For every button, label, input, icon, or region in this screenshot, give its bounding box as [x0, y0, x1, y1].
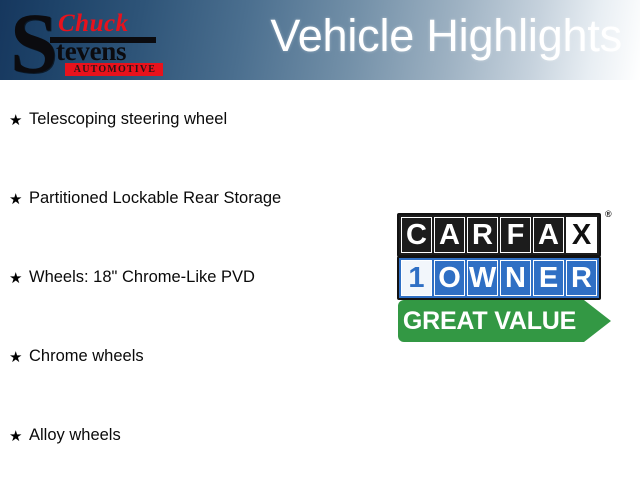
list-item: ★ Telescoping steering wheel — [0, 80, 370, 159]
carfax-brand-row: C A R F A X — [397, 213, 601, 257]
vehicle-highlights-slide: S Chuck tevens AUTOMOTIVE Vehicle Highli… — [0, 0, 640, 480]
logo-first-name: Chuck — [58, 11, 129, 36]
carfax-letter-cell: C — [401, 217, 432, 253]
carfax-letter-cell: X — [566, 217, 597, 253]
owner-letter-cell: 1 — [401, 260, 432, 296]
vehicle-highlights-list: ★ Telescoping steering wheel ★ Partition… — [0, 80, 370, 475]
owner-letter-cell: N — [500, 260, 531, 296]
great-value-label: GREAT VALUE — [398, 300, 581, 342]
page-title: Vehicle Highlights — [270, 7, 622, 65]
list-item: ★ Partitioned Lockable Rear Storage — [0, 159, 370, 238]
owner-letter-cell: W — [467, 260, 498, 296]
carfax-letter-cell: R — [467, 217, 498, 253]
carfax-letter-cell: A — [434, 217, 465, 253]
great-value-banner: GREAT VALUE — [398, 300, 611, 342]
owner-letter-cell: E — [533, 260, 564, 296]
carfax-owner-row: 1 O W N E R — [397, 256, 601, 300]
highlight-label: Wheels: 18" Chrome-Like PVD — [29, 238, 370, 288]
highlight-label: Chrome wheels — [29, 317, 370, 367]
highlight-label: Alloy wheels — [29, 396, 370, 446]
highlight-label: Partitioned Lockable Rear Storage — [29, 159, 370, 209]
owner-letter-cell: R — [566, 260, 597, 296]
list-item: ★ Alloy wheels — [0, 396, 370, 475]
star-bullet-icon: ★ — [9, 80, 29, 132]
dealer-logo[interactable]: S Chuck tevens AUTOMOTIVE — [10, 4, 158, 78]
list-item: ★ Chrome wheels — [0, 317, 370, 396]
registered-trademark-icon: ® — [605, 210, 612, 219]
star-bullet-icon: ★ — [9, 238, 29, 290]
star-bullet-icon: ★ — [9, 159, 29, 211]
star-bullet-icon: ★ — [9, 396, 29, 448]
carfax-one-owner-badge[interactable]: C A R F A X ® 1 O W N E R GREAT VALUE — [397, 210, 612, 344]
highlight-label: Telescoping steering wheel — [29, 80, 370, 130]
logo-last-name: tevens — [56, 38, 126, 65]
carfax-letter-cell: F — [500, 217, 531, 253]
slide-header: S Chuck tevens AUTOMOTIVE Vehicle Highli… — [0, 0, 640, 80]
logo-initial-letter: S — [10, 0, 58, 80]
owner-letter-cell: O — [434, 260, 465, 296]
star-bullet-icon: ★ — [9, 317, 29, 369]
carfax-letter-cell: A — [533, 217, 564, 253]
list-item: ★ Wheels: 18" Chrome-Like PVD — [0, 238, 370, 317]
